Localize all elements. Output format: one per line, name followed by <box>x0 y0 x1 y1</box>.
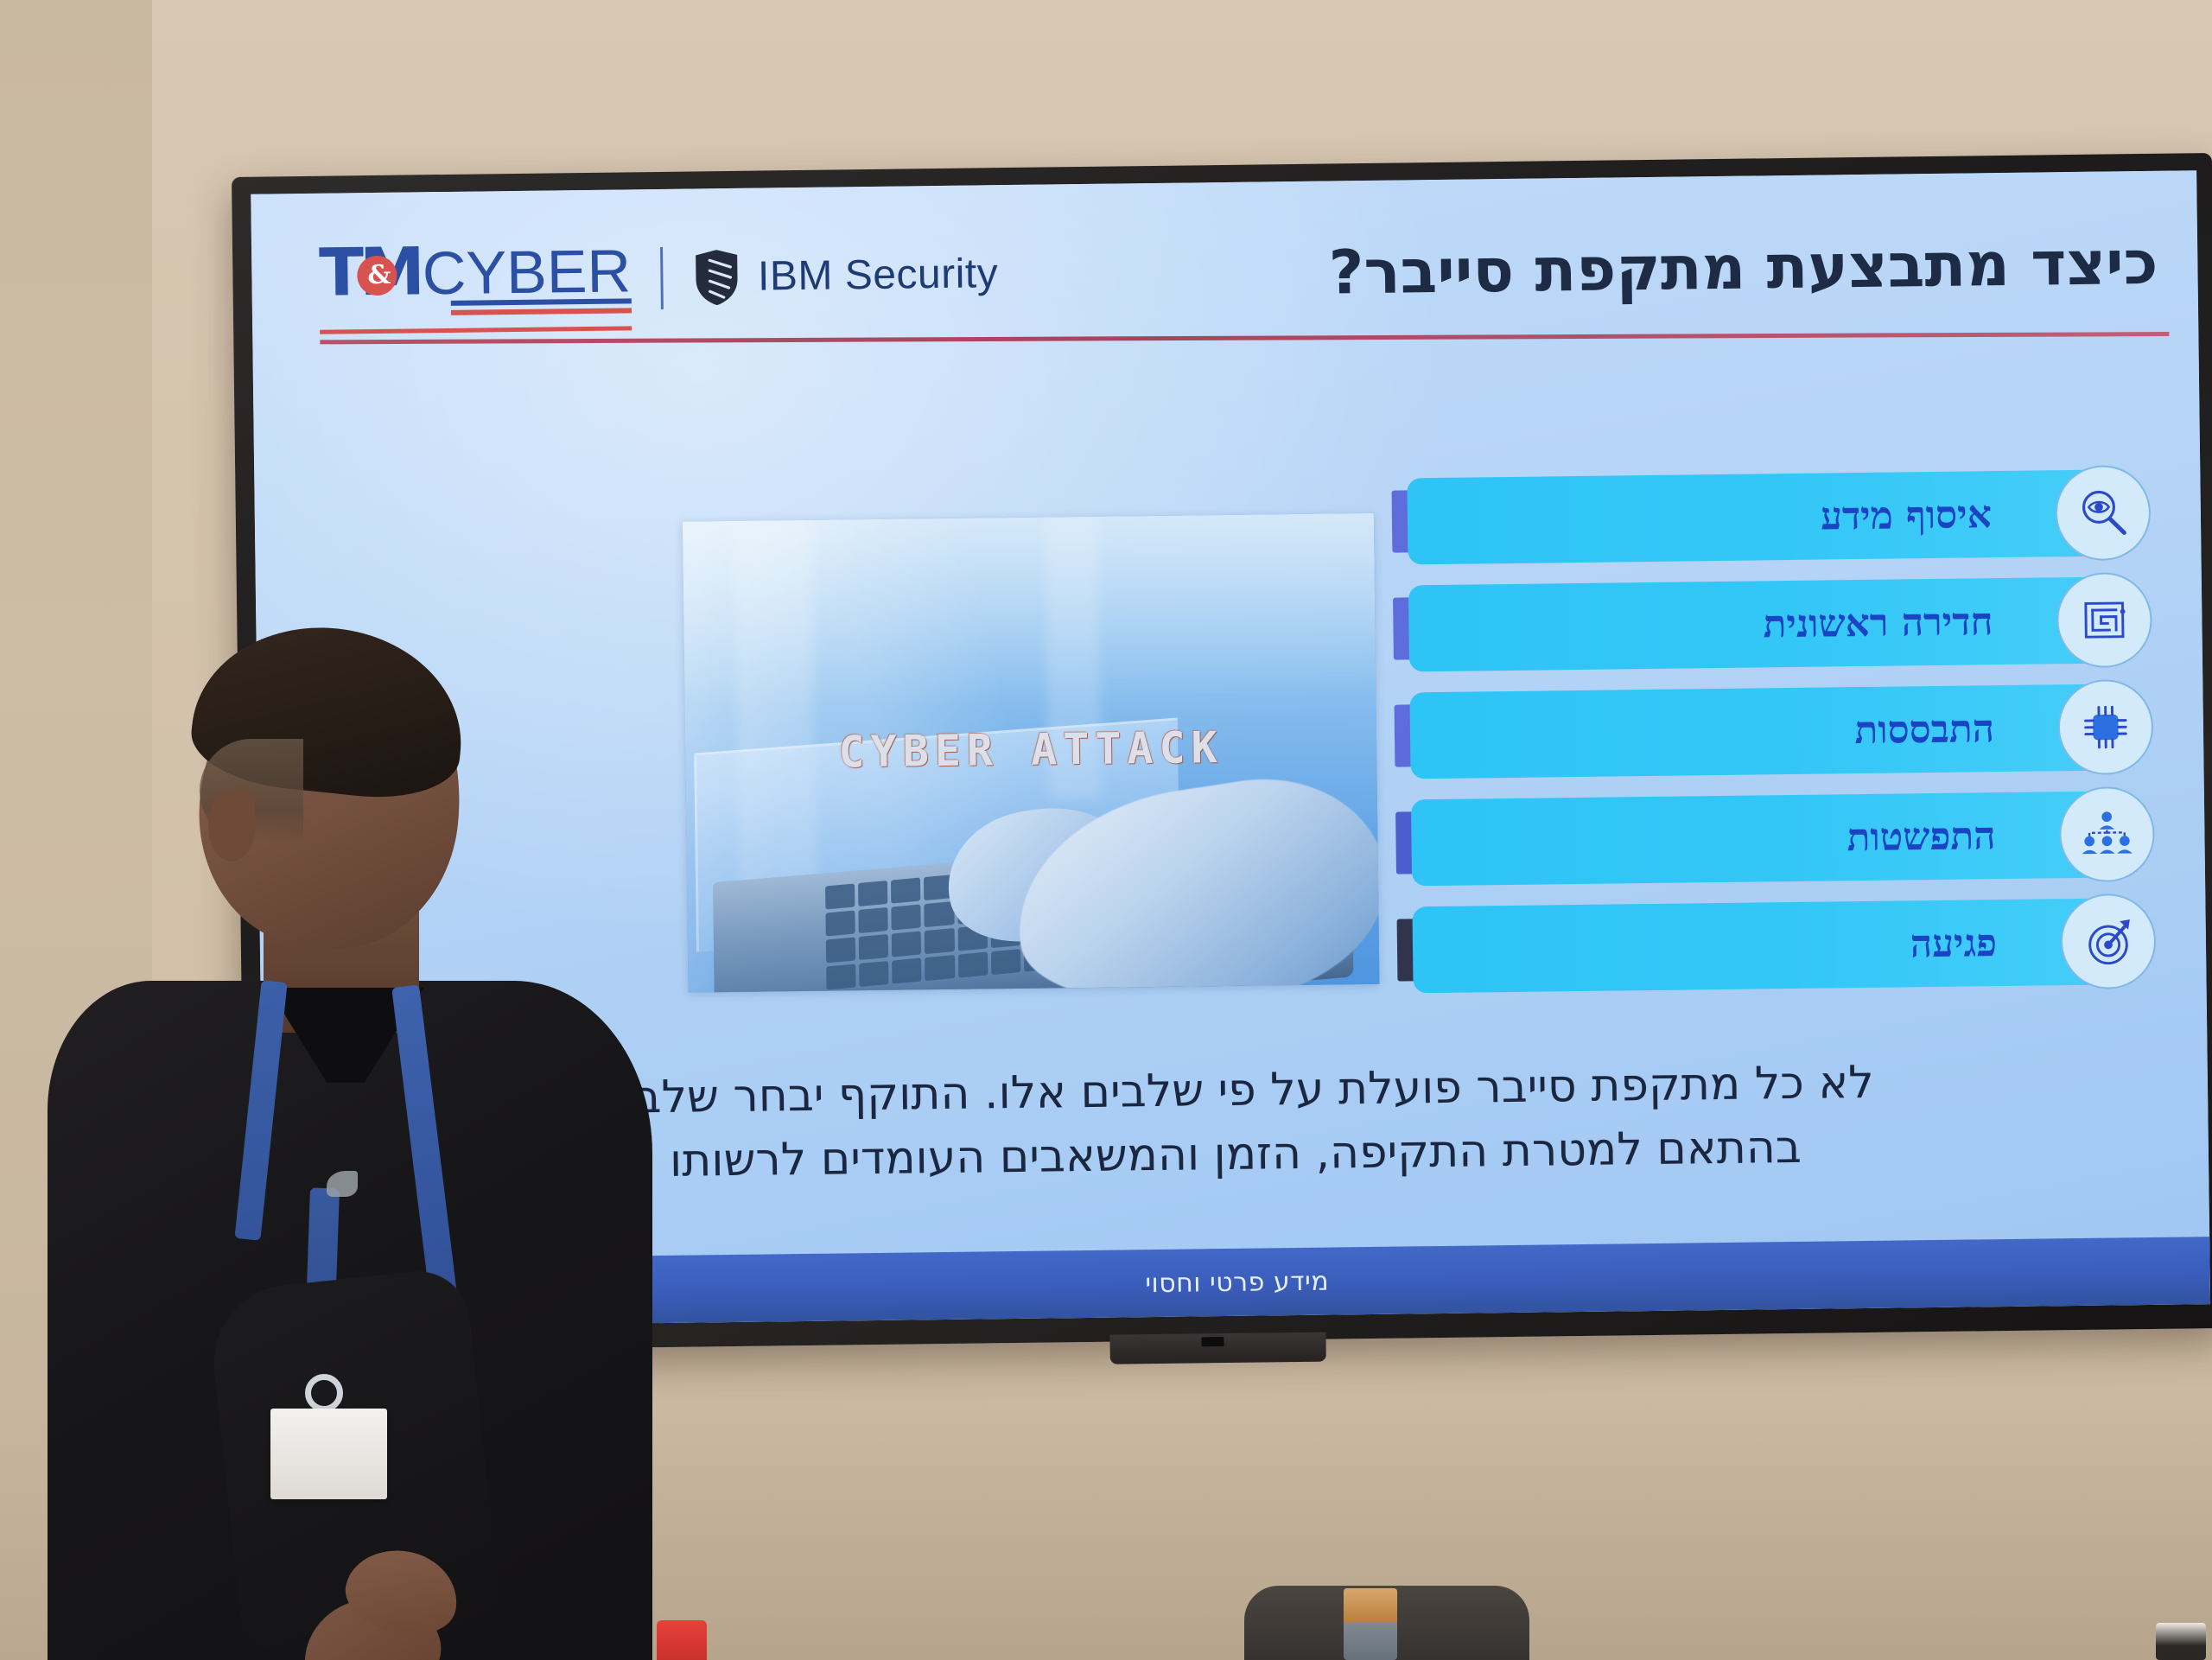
paper-cup <box>2156 1623 2206 1660</box>
red-object <box>657 1620 707 1660</box>
cyber-attack-overlay-text: CYBER ATTACK <box>685 721 1377 779</box>
stage-bar[interactable]: התפשטות <box>1411 792 2105 887</box>
cyber-attack-photo: CYBER ATTACK <box>683 513 1380 993</box>
stage-label: פגיעה <box>1910 921 1997 966</box>
presenter-ear <box>208 791 255 862</box>
tm-logo-rules <box>451 298 632 315</box>
shield-icon <box>692 250 741 306</box>
cpu-chip-icon <box>2079 700 2133 754</box>
tv-ir-sensor <box>1201 1337 1224 1346</box>
org-spread-icon <box>2080 807 2134 862</box>
brand-divider <box>660 247 664 309</box>
tm-cyber-word: CYBER <box>423 245 632 300</box>
stage-label: איסוף מידע <box>1821 493 1992 538</box>
stage-icon-badge <box>2055 465 2151 561</box>
tm-letters: TM & <box>319 244 423 302</box>
confidentiality-notice: מידע פרטי וחסוי <box>1145 1266 1329 1299</box>
name-badge <box>270 1409 387 1499</box>
stage-bar[interactable]: איסוף מידע <box>1407 470 2101 565</box>
target-dart-icon <box>2082 914 2136 969</box>
tm-rule-red <box>451 308 632 315</box>
tm-rule-blue <box>451 298 632 306</box>
tm-underline <box>320 326 632 334</box>
photo-highlight <box>683 513 1376 710</box>
polo-chest-logo <box>327 1171 358 1197</box>
stage-row-2[interactable]: חדירה ראשונית <box>1408 576 2152 680</box>
stage-icon-badge <box>2056 572 2152 668</box>
drink-contents <box>1344 1588 1397 1623</box>
stage-icon-badge <box>2059 786 2155 882</box>
tm-letter-t: T <box>319 234 360 312</box>
stage-label: חדירה ראשונית <box>1763 600 1993 646</box>
presenter-speaking <box>48 635 704 1660</box>
ampersand-badge: & <box>357 255 397 296</box>
tm-wordmark: TM & CYBER <box>319 241 631 302</box>
stage-row-1[interactable]: איסוף מידע <box>1407 469 2151 573</box>
slide-header: TM & CYBER <box>251 170 2198 349</box>
ibm-security-lockup: IBM Security <box>692 246 999 305</box>
stage-bar[interactable]: חדירה ראשונית <box>1408 577 2102 672</box>
stage-label: התבססות <box>1854 707 1994 753</box>
attack-stages-list: איסוף מידע <box>1407 469 2157 1014</box>
network-maze-icon <box>2077 593 2132 647</box>
stage-label: התפשטות <box>1847 814 1996 860</box>
stage-bar[interactable]: פגיעה <box>1412 899 2106 994</box>
stage-row-5[interactable]: פגיעה <box>1412 898 2156 1002</box>
stage-row-3[interactable]: התבססות <box>1409 684 2153 787</box>
stage-row-4[interactable]: התפשטות <box>1411 791 2155 894</box>
badge-clip <box>305 1374 343 1412</box>
ibm-security-label: IBM Security <box>758 251 999 301</box>
stage-icon-badge <box>2057 679 2153 775</box>
stage-bar[interactable]: התבססות <box>1409 684 2103 779</box>
brand-lockup: TM & CYBER <box>319 236 999 320</box>
tm-cyber-logo: TM & CYBER <box>319 241 632 321</box>
magnifier-eye-icon <box>2076 486 2131 540</box>
slide-title: כיצד מתבצעת מתקפת סייבר? <box>1328 222 2158 308</box>
stage-icon-badge <box>2060 894 2156 989</box>
